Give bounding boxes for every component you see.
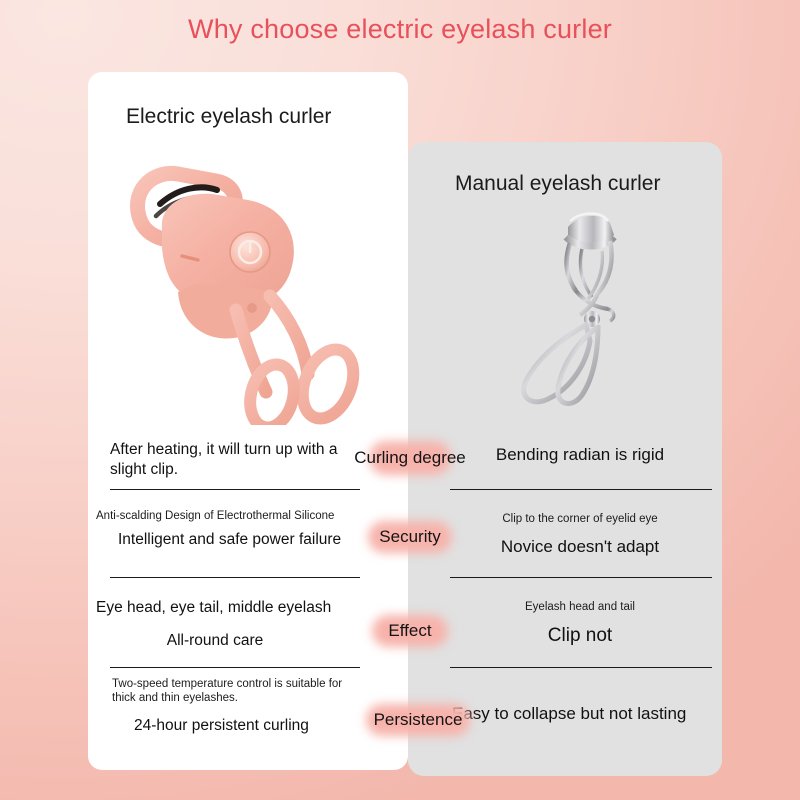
row-3-right-divider [450, 667, 712, 668]
panel-electric-heading: Electric eyelash curler [126, 105, 331, 129]
row-3-right: Eyelash head and tail Clip not [444, 600, 716, 648]
panel-manual-heading: Manual eyelash curler [455, 172, 660, 196]
row-3-left-divider [110, 667, 360, 668]
page-title: Why choose electric eyelash curler [0, 14, 800, 45]
poster-root: Why choose electric eyelash curler Elect… [0, 0, 800, 800]
badge-persistence: Persistence [366, 703, 470, 737]
row-1-left-main: After heating, it will turn up with a sl… [110, 440, 360, 479]
badge-effect: Effect [372, 614, 448, 648]
electric-eyelash-curler-image [120, 160, 370, 425]
row-2-right: Clip to the corner of eyelid eye Novice … [444, 512, 716, 557]
row-1-right-main: Bending radian is rigid [444, 444, 716, 465]
badge-security: Security [368, 520, 452, 554]
row-3-left: Eye head, eye tail, middle eyelash All-r… [96, 598, 368, 650]
row-1-right-divider [450, 489, 712, 490]
row-2-left-divider [110, 577, 360, 578]
row-2-left: Anti-scalding Design of Electrothermal S… [96, 509, 364, 550]
manual-eyelash-curler-image [498, 205, 684, 410]
badge-curling-degree: Curling degree [368, 436, 452, 480]
row-1-left-divider [110, 489, 360, 490]
row-4-right: Easy to collapse but not lasting [452, 703, 702, 724]
row-2-right-divider [450, 577, 712, 578]
row-4-left: Two-speed temperature control is suitabl… [112, 677, 362, 736]
